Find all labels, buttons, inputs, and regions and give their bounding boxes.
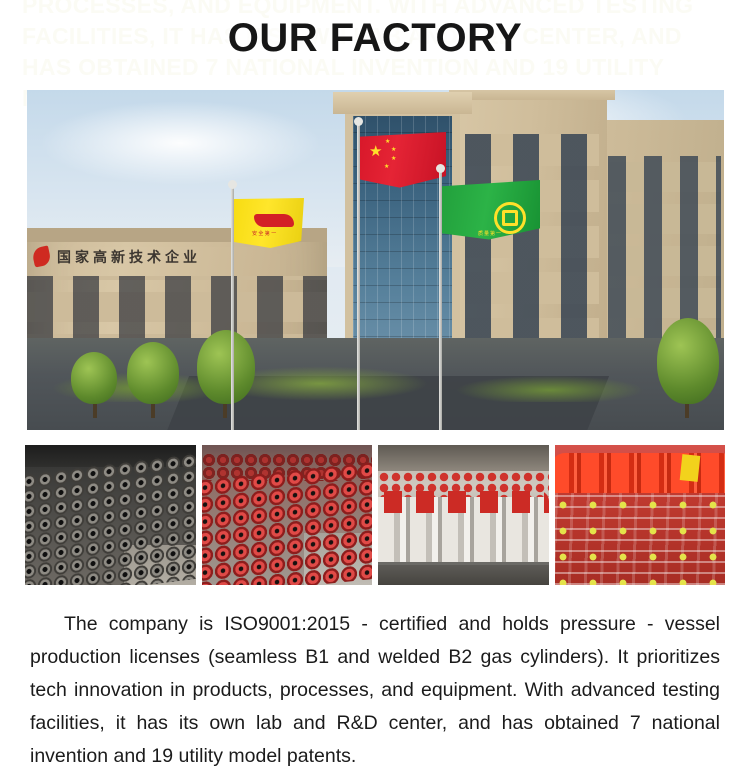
flag-star-large-icon: ★ <box>369 144 382 159</box>
red-cylinder-caps <box>378 491 549 513</box>
yellow-flag-emblem <box>254 214 294 227</box>
flagpole-knob-3 <box>436 164 445 173</box>
flag-star-small-2-icon: ★ <box>391 147 396 153</box>
thumb-silver-cylinders-production <box>378 445 549 585</box>
flag-star-small-1-icon: ★ <box>385 139 390 145</box>
factory-roof-structure <box>378 445 549 471</box>
hero-factory-photo: 国家高新技术企业 安全第一 ★ ★ ★ ★ ★ 质量第一 <box>27 90 724 430</box>
tower-cornice <box>333 92 472 114</box>
right-wing-cornice <box>449 90 615 100</box>
flag-star-small-4-icon: ★ <box>384 164 389 170</box>
red-cylinder-stack <box>202 458 373 585</box>
thumb-steel-cylinders-warehouse <box>25 445 196 585</box>
flagpole-knob-1 <box>228 180 237 189</box>
thumb-red-cylinders-stacked <box>202 445 373 585</box>
tree-4 <box>657 318 719 404</box>
yellow-valve-caps <box>555 497 726 585</box>
tree-3 <box>71 352 117 404</box>
tree-1 <box>127 342 179 404</box>
flagpole-yellow <box>231 188 234 430</box>
factory-thumbnail-strip <box>25 445 725 585</box>
safety-rail-lower <box>378 565 549 585</box>
thumb-red-cylinders-wrapped <box>555 445 726 585</box>
flagpole-knob-2 <box>354 117 363 126</box>
building-sign-chinese-text: 国家高新技术企业 <box>57 247 201 267</box>
flag-star-small-3-icon: ★ <box>391 156 396 162</box>
company-flag-yellow: 安全第一 <box>234 198 304 248</box>
page-title: OUR FACTORY <box>0 14 750 62</box>
yellow-flag-caption: 安全第一 <box>252 230 278 237</box>
green-flag-caption: 质量第一 <box>478 230 502 237</box>
flagpole-china <box>357 125 360 430</box>
building-signboard: 国家高新技术企业 <box>31 246 231 268</box>
cylinder-warning-label <box>679 454 700 482</box>
tree-2 <box>197 330 255 404</box>
factory-description-paragraph: The company is ISO9001:2015 - certified … <box>30 608 720 773</box>
flagpole-green <box>439 172 442 430</box>
company-flame-logo-icon <box>31 245 52 267</box>
grey-cylinder-stack <box>25 448 196 585</box>
